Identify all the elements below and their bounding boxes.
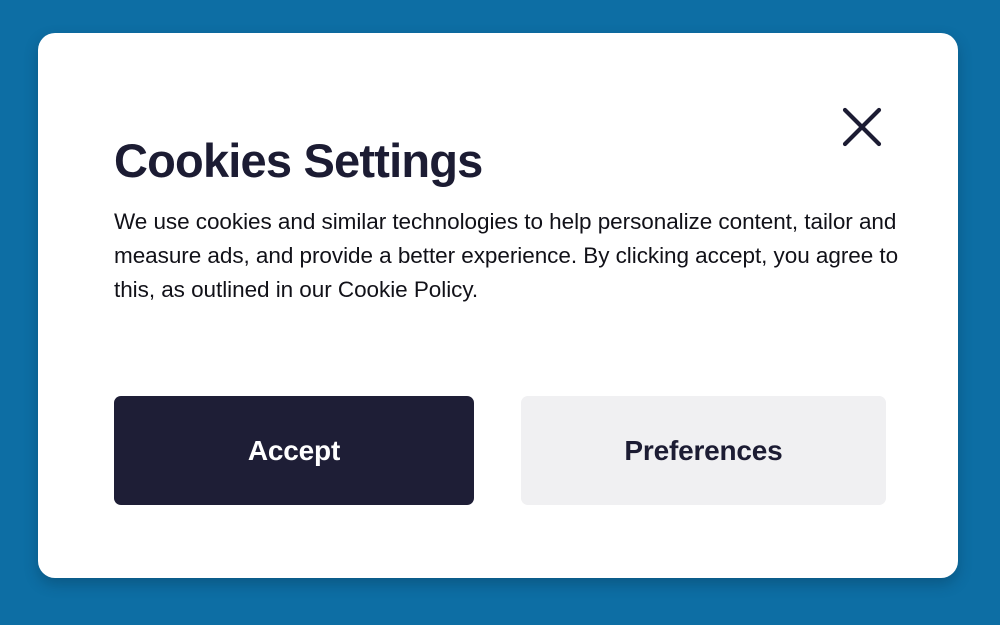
page-title: Cookies Settings (114, 133, 483, 189)
preferences-button[interactable]: Preferences (521, 396, 886, 505)
cookies-settings-dialog: Cookies Settings We use cookies and simi… (38, 33, 958, 578)
accept-button[interactable]: Accept (114, 396, 474, 505)
dialog-body: We use cookies and similar technologies … (114, 205, 900, 307)
dialog-actions: Accept Preferences (114, 396, 886, 505)
dialog-header: Cookies Settings (38, 33, 958, 173)
close-button[interactable] (833, 98, 891, 156)
screen-background: Cookies Settings We use cookies and simi… (0, 0, 1000, 625)
close-icon (842, 107, 882, 147)
dialog-description: We use cookies and similar technologies … (114, 205, 900, 307)
